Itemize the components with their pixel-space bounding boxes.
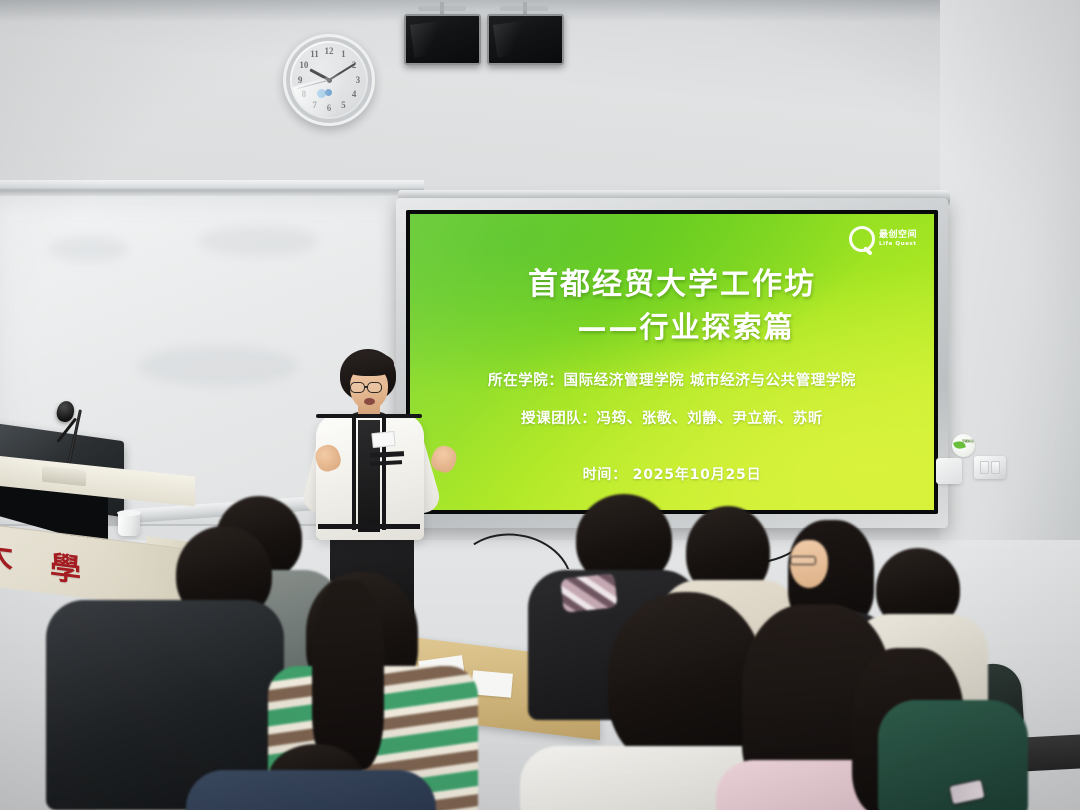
- presenter-glasses-left: [350, 382, 365, 393]
- clock-numeral: 10: [297, 60, 310, 71]
- jacket-trim: [318, 524, 420, 529]
- smartboard[interactable]: 最创空间 Life Quest 首都经贸大学工作坊 ——行业探索篇 所在学院：国…: [396, 198, 948, 528]
- ceiling-display-left: [404, 14, 481, 65]
- podium-character: 學: [50, 553, 81, 588]
- light-switch-panel[interactable]: [974, 456, 1006, 479]
- logo-name-cn: 最创空间: [879, 231, 917, 240]
- presenter-glasses-right: [367, 382, 382, 393]
- slide-title-line1: 首都经贸大学工作坊: [410, 259, 934, 303]
- ceiling-display-right: [487, 14, 564, 65]
- right-wall: [940, 0, 1080, 600]
- paper-cup: [118, 512, 140, 536]
- wall-clock: 12 1 2 3 4 5 6 7 8 9 10 11: [283, 34, 375, 126]
- presenter-fringe: [344, 352, 394, 376]
- clock-numeral: 1: [337, 49, 350, 60]
- slide-college-line: 所在学院：国际经济管理学院 城市经济与公共管理学院: [410, 369, 934, 390]
- clock-numeral: 4: [348, 89, 361, 100]
- energy-label-sticker: 节能标识: [952, 434, 975, 457]
- classroom-photo: 12 1 2 3 4 5 6 7 8 9 10 11: [0, 0, 1080, 810]
- brand-logo: 最创空间 Life Quest: [849, 226, 917, 252]
- student-torso: [186, 770, 436, 810]
- presentation-slide: 最创空间 Life Quest 首都经贸大学工作坊 ——行业探索篇 所在学院：国…: [410, 214, 934, 510]
- sticker-text: 节能标识: [962, 440, 974, 444]
- logo-name-en: Life Quest: [879, 242, 917, 248]
- light-switch-a[interactable]: [980, 461, 989, 474]
- presenter-glasses-bridge: [365, 386, 368, 388]
- light-switch-b[interactable]: [991, 461, 1000, 474]
- jacket-trim: [316, 414, 422, 418]
- clock-numeral: 12: [323, 46, 336, 57]
- jacket-trim: [352, 418, 356, 530]
- smartboard-screen[interactable]: 最创空间 Life Quest 首都经贸大学工作坊 ——行业探索篇 所在学院：国…: [410, 214, 934, 510]
- student-hair: [312, 580, 384, 770]
- slide-title-line2: ——行业探索篇: [410, 304, 934, 346]
- smartboard-bezel: 最创空间 Life Quest 首都经贸大学工作坊 ——行业探索篇 所在学院：国…: [406, 210, 938, 514]
- student-glasses: [790, 556, 816, 565]
- slide-team-line: 授课团队：冯筠、张敬、刘静、尹立新、苏昕: [410, 407, 934, 428]
- hood-lining: [560, 573, 617, 612]
- presenter-name-badge: [371, 431, 395, 448]
- clock-numeral: 3: [351, 75, 364, 86]
- clock-face: 12 1 2 3 4 5 6 7 8 9 10 11: [292, 43, 366, 117]
- student-head: [608, 592, 764, 768]
- presenter-mouth: [364, 398, 375, 405]
- podium-character: 大: [0, 538, 13, 573]
- logo-q-icon: [849, 226, 875, 252]
- clock-numeral: 11: [308, 49, 321, 60]
- slide-date-line: 时间： 2025年10月25日: [410, 464, 934, 484]
- wall-socket[interactable]: [936, 458, 962, 484]
